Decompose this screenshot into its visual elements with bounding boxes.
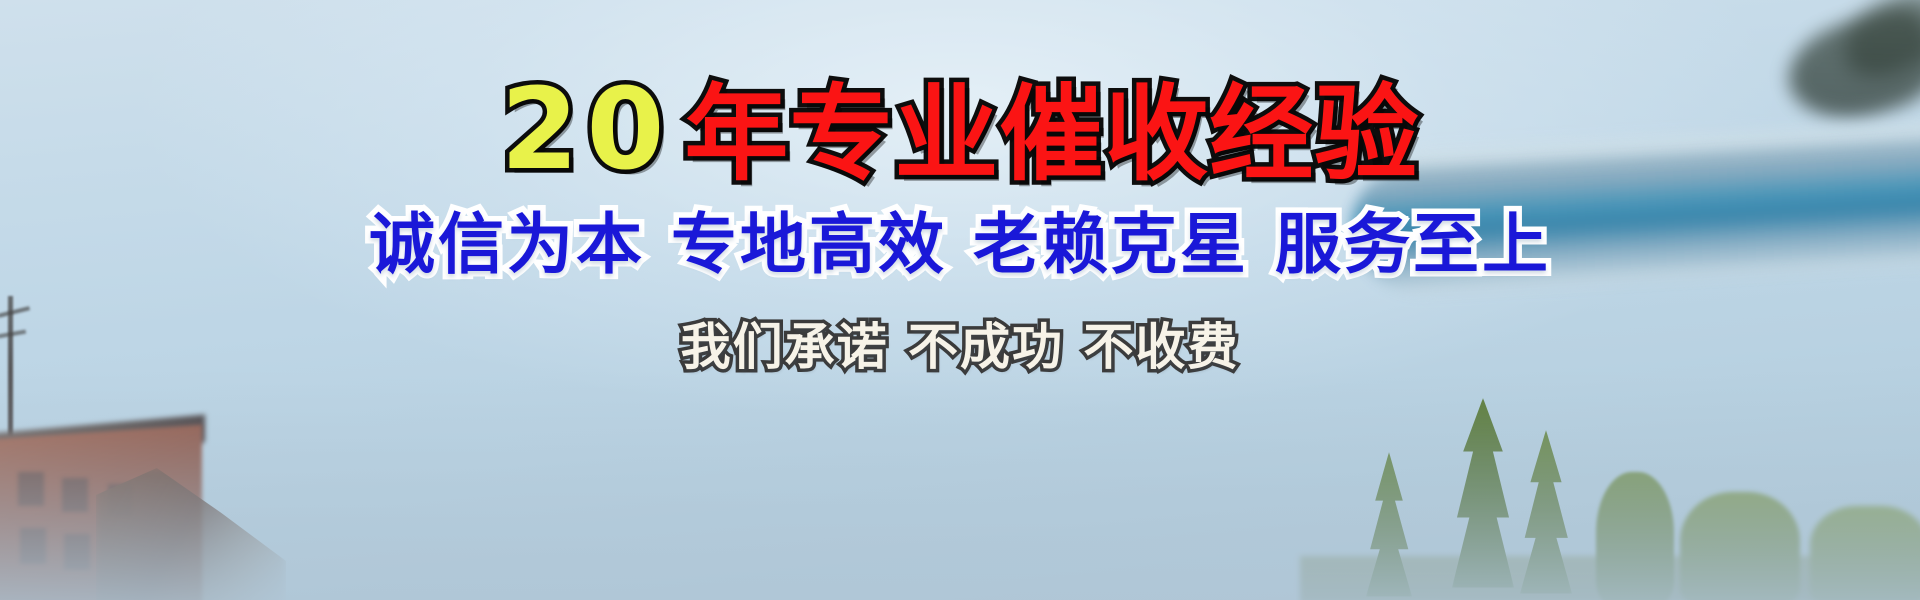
promo-banner: 20 年专业催收经验 诚信为本 专地高效 老赖克星 服务至上 我们承诺 不成功 …	[0, 0, 1920, 600]
headline-years-number: 20	[501, 74, 685, 186]
banner-content: 20 年专业催收经验 诚信为本 专地高效 老赖克星 服务至上 我们承诺 不成功 …	[0, 0, 1920, 600]
promise-line: 我们承诺 不成功 不收费	[681, 322, 1240, 372]
headline: 20 年专业催收经验	[501, 74, 1420, 186]
slogan-line: 诚信为本 专地高效 老赖克星 服务至上	[369, 212, 1551, 278]
headline-text: 年专业催收经验	[684, 82, 1419, 186]
